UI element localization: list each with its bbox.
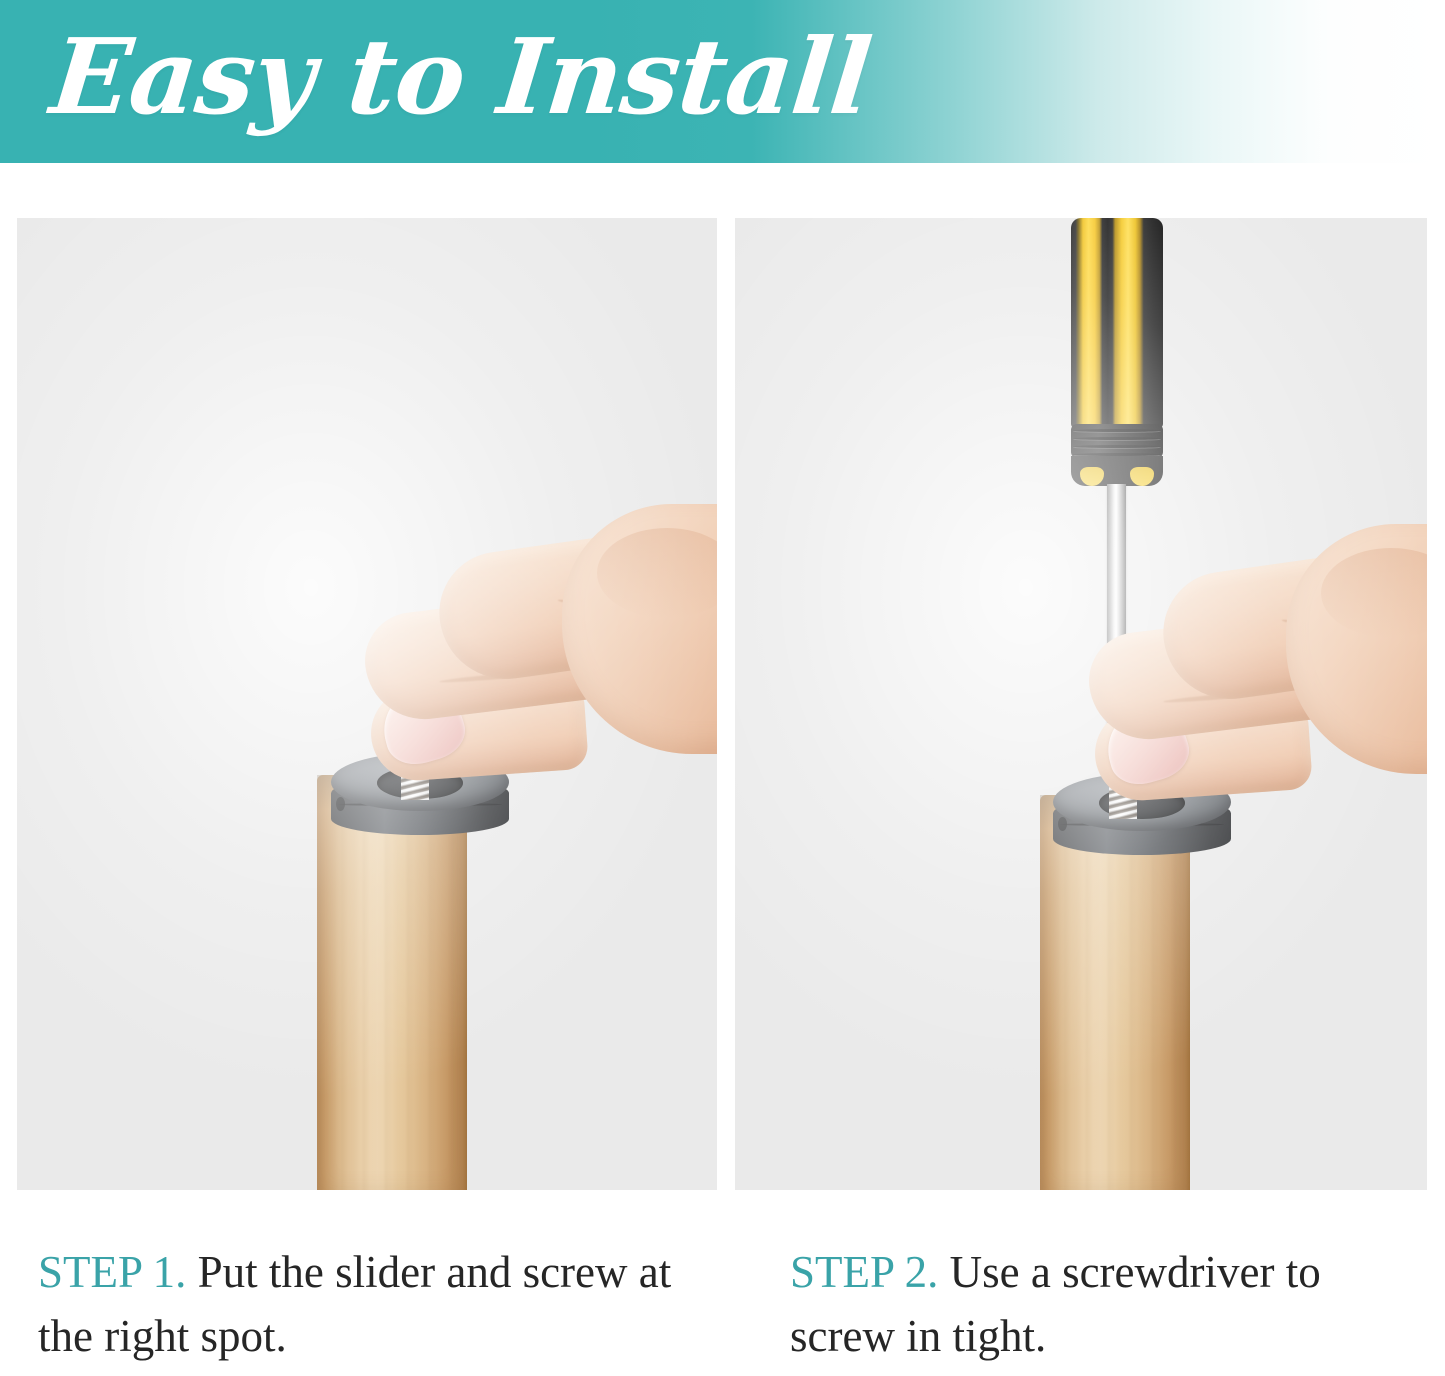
step-2-photo — [735, 218, 1427, 1190]
screwdriver-rib — [1073, 437, 1161, 440]
step-1-label: STEP 1. — [38, 1247, 186, 1297]
hand — [1071, 508, 1427, 838]
screwdriver-boot-tab-right — [1130, 467, 1154, 486]
screwdriver-handle — [1071, 218, 1163, 428]
hand — [347, 488, 717, 818]
step-1-photo — [17, 218, 717, 1190]
step-2-label: STEP 2. — [790, 1247, 938, 1297]
step-1-caption: STEP 1. Put the slider and screw at the … — [38, 1240, 718, 1368]
wood-grain — [317, 775, 467, 1190]
photo-panels — [0, 0, 1445, 1376]
step-2-caption: STEP 2. Use a screwdriver to screw in ti… — [790, 1240, 1430, 1368]
screwdriver-rib — [1073, 429, 1161, 432]
screwdriver-collar — [1071, 424, 1163, 458]
screwdriver-boot — [1071, 456, 1163, 486]
screwdriver-boot-tab-left — [1080, 467, 1104, 486]
screwdriver-rib — [1073, 445, 1161, 448]
slider-disc-nick — [336, 797, 345, 811]
slider-disc-nick — [1058, 817, 1067, 831]
wooden-leg — [317, 775, 467, 1190]
